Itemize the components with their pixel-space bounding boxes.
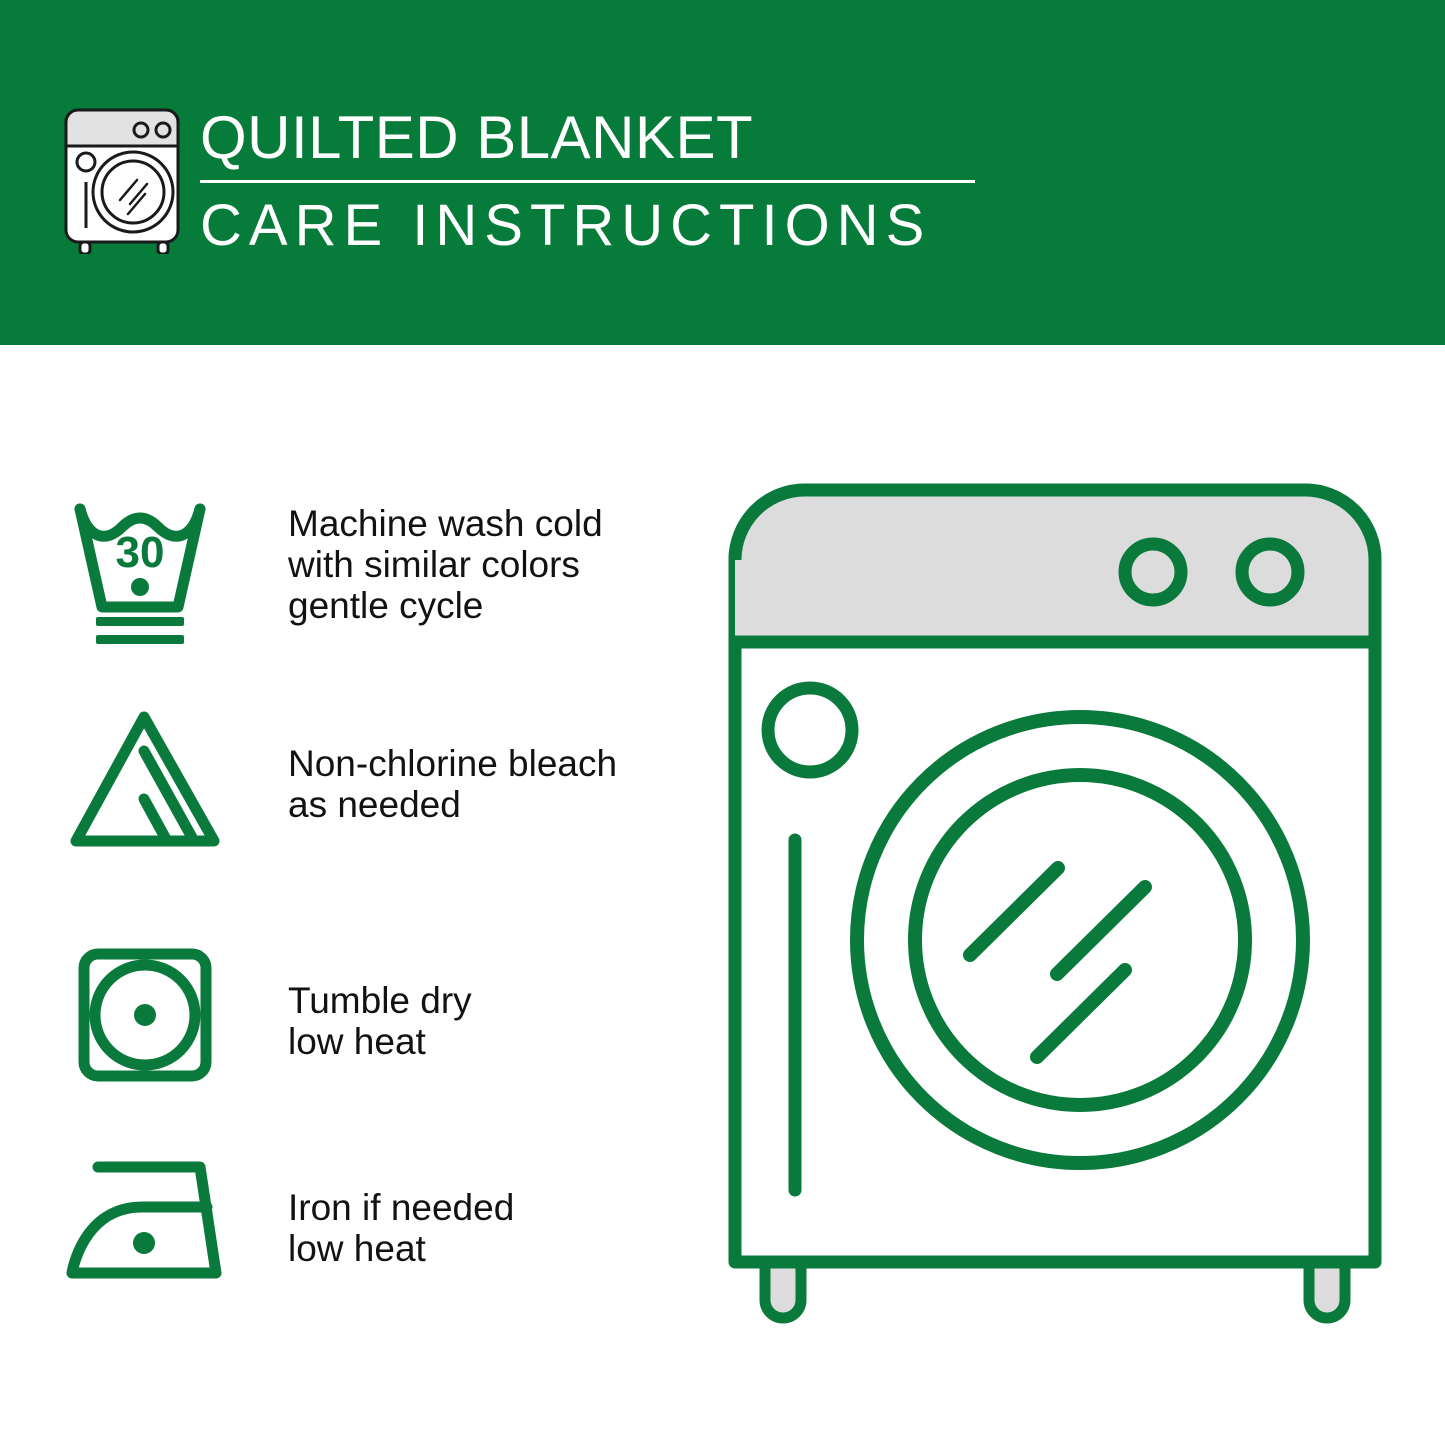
care-instruction-list: 30 Machine wash cold with similar colors… xyxy=(0,345,700,1445)
tumble-dry-icon xyxy=(66,938,236,1098)
care-instruction-text: Machine wash cold with similar colors ge… xyxy=(288,503,603,626)
care-instruction-text: Non-chlorine bleach as needed xyxy=(288,743,617,825)
care-row-iron: Iron if needed low heat xyxy=(0,1145,700,1315)
header-band: QUILTED BLANKET CARE INSTRUCTIONS xyxy=(0,0,1445,345)
care-row-bleach: Non-chlorine bleach as needed xyxy=(0,703,700,873)
wash-tub-30-icon: 30 xyxy=(66,495,236,655)
control-knob xyxy=(1242,544,1298,600)
care-row-tumble-dry: Tumble dry low heat xyxy=(0,938,700,1108)
care-instruction-text: Tumble dry low heat xyxy=(288,980,472,1062)
page-subtitle: CARE INSTRUCTIONS xyxy=(200,193,990,259)
care-row-machine-wash: 30 Machine wash cold with similar colors… xyxy=(0,495,700,665)
title-divider xyxy=(200,180,975,183)
control-knob xyxy=(1125,544,1181,600)
page-title: QUILTED BLANKET xyxy=(200,104,990,172)
washing-machine-icon xyxy=(62,104,188,254)
care-instruction-text: Iron if needed low heat xyxy=(288,1187,514,1269)
iron-icon xyxy=(66,1145,236,1305)
washing-machine-illustration xyxy=(725,480,1385,1360)
bleach-triangle-icon xyxy=(66,703,236,863)
header-text-block: QUILTED BLANKET CARE INSTRUCTIONS xyxy=(200,104,990,259)
wash-temp-label: 30 xyxy=(116,528,165,577)
care-instructions-page: QUILTED BLANKET CARE INSTRUCTIONS 30 xyxy=(0,0,1445,1445)
machine-leg xyxy=(765,1262,1345,1318)
